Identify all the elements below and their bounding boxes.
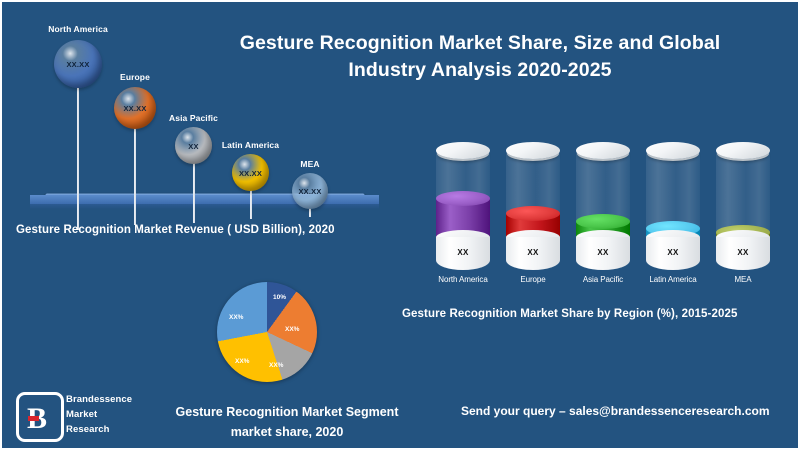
pie-caption-line-2: market share, 2020 [152, 422, 422, 442]
balloon-sphere: XX.XX [232, 154, 269, 191]
cylinder-chart-caption: Gesture Recognition Market Share by Regi… [402, 308, 737, 320]
cylinder-label: MEA [708, 275, 778, 284]
balloon-sphere: XX.XX [292, 173, 328, 209]
balloon-sphere: XX.XX [114, 87, 156, 129]
cylinder-fill-surface [436, 191, 490, 206]
balloon-sphere: XX [175, 127, 212, 164]
cylinder-label: North America [428, 275, 498, 284]
balloon-revenue-chart: North AmericaXX.XXEuropeXX.XXAsia Pacifi… [2, 2, 402, 252]
logo-text-line-3: Research [66, 424, 110, 435]
balloon-label: MEA [270, 159, 350, 169]
cylinder-fill-surface [576, 214, 630, 229]
balloon-string [193, 160, 195, 223]
cylinder-label: Latin America [638, 275, 708, 284]
pie-segment-chart: 10%XX%XX%XX%XX% [217, 282, 317, 382]
balloon-label: Asia Pacific [153, 113, 234, 123]
pie-slice-label-2: XX% [269, 362, 283, 369]
balloon-value: XX.XX [114, 104, 156, 113]
balloon-string [250, 187, 252, 219]
cylinder-cap [506, 142, 560, 159]
balloon-chart-caption: Gesture Recognition Market Revenue ( USD… [16, 224, 406, 236]
pie-slice-label-4: XX% [229, 314, 243, 321]
cylinder-cap [576, 142, 630, 159]
brand-logo: B Brandessence Market Research [16, 390, 151, 440]
balloon-label: Latin America [210, 140, 291, 150]
cylinder-fill-surface [506, 206, 560, 221]
pie-slice-label-0: 10% [273, 294, 286, 301]
pie-slice-label-3: XX% [235, 358, 249, 365]
logo-text-line-1: Brandessence [66, 394, 132, 405]
pie-chart-caption: Gesture Recognition Market Segment marke… [152, 402, 422, 442]
balloon-value: XX.XX [54, 60, 102, 69]
pie-graphic [217, 282, 317, 382]
cylinder-value: XX [576, 248, 630, 257]
cylinder-label: Asia Pacific [568, 275, 638, 284]
balloon-string [77, 84, 79, 230]
cylinder-value: XX [716, 248, 770, 257]
logo-text-line-2: Market [66, 409, 97, 420]
balloon-value: XX.XX [232, 169, 269, 178]
balloon-value: XX [175, 142, 212, 151]
infographic-canvas: Gesture Recognition Market Share, Size a… [2, 2, 798, 448]
pie-caption-line-1: Gesture Recognition Market Segment [152, 402, 422, 422]
cylinder-cap [716, 142, 770, 159]
cylinder-value: XX [506, 248, 560, 257]
cylinder-value: XX [436, 248, 490, 257]
cylinder-cap [436, 142, 490, 159]
balloon-label: North America [32, 24, 124, 34]
cylinder-cap [646, 142, 700, 159]
logo-accent-dash-icon [28, 416, 39, 421]
balloon-string [134, 125, 136, 225]
balloon-value: XX.XX [292, 187, 328, 196]
balloon-label: Europe [92, 72, 178, 82]
cylinder-share-chart: XXNorth AmericaXXEuropeXXAsia PacificXXL… [432, 142, 782, 297]
pie-slice-label-1: XX% [285, 326, 299, 333]
cylinder-label: Europe [498, 275, 568, 284]
cylinder-value: XX [646, 248, 700, 257]
contact-email-line[interactable]: Send your query – sales@brandessencerese… [461, 404, 770, 418]
chart-platform-shadow [30, 204, 379, 209]
logo-mark-icon: B [16, 392, 64, 442]
